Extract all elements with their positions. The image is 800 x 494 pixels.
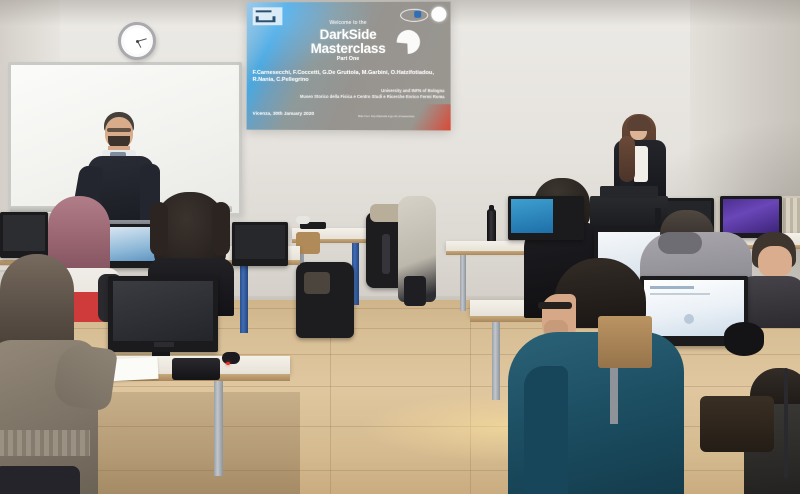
chair <box>700 396 774 452</box>
slide-date: Vicenza, 30th January 2020 <box>253 112 315 117</box>
bottle-cap <box>489 205 494 211</box>
notepad <box>109 357 158 381</box>
institute-logo-mark <box>414 11 421 18</box>
assistant-top <box>633 146 648 182</box>
student-jacket-arm <box>524 366 568 494</box>
monitor-screen <box>511 199 553 233</box>
student-face <box>758 246 792 278</box>
monitor-brand-label <box>154 342 174 347</box>
mouse-light <box>226 362 230 365</box>
student-glasses <box>538 302 572 309</box>
slide-affiliation: University and INFN of Bologna Museo Sto… <box>253 88 445 100</box>
monitor-screen <box>235 225 285 259</box>
backpack <box>296 262 354 338</box>
slide-authors: F.Carnesecchi, F.Coccetti, G.De Gruttola… <box>253 70 445 84</box>
desk-item <box>296 216 310 224</box>
projected-slide: Welcome to the DarkSide Masterclass Part… <box>247 2 451 131</box>
slide-affiliation-line2: Museo Storico della Fisica e Centro Stud… <box>253 94 445 100</box>
chair <box>598 316 652 368</box>
assistant-hair-strand <box>619 136 635 182</box>
monitor-screen <box>3 215 45 251</box>
slide-part-label: Part One <box>247 57 451 63</box>
student-foreground-coat <box>0 254 106 494</box>
chair-leg <box>610 368 618 424</box>
wall-clock <box>118 22 156 60</box>
student-lower-body <box>0 466 80 494</box>
slide-footer-url: Slide from: http://darkside.lngs.infn.it… <box>336 116 436 119</box>
desktop-monitor <box>508 196 584 240</box>
water-bottle <box>487 209 496 242</box>
student-hair-side <box>150 202 168 256</box>
presenter-glasses <box>107 128 131 132</box>
desk-leg <box>214 381 223 476</box>
desk-leg <box>492 322 500 400</box>
clock-face <box>124 28 150 54</box>
desk-leg <box>240 265 248 333</box>
slide-welcome-text: Welcome to the <box>247 21 451 27</box>
hoodie-hood <box>658 232 702 254</box>
cable <box>784 368 788 478</box>
slide-circle-logo <box>431 7 446 22</box>
desktop-monitor <box>232 222 288 266</box>
desktop-monitor <box>108 276 218 352</box>
lectern-top <box>600 186 658 198</box>
desk-leg <box>460 255 466 311</box>
backpack-strap <box>382 234 390 274</box>
backpack-pocket <box>304 272 330 294</box>
student-teal-jacket <box>508 258 688 494</box>
coat-lower <box>404 276 426 306</box>
slide-title-line2: Masterclass <box>247 42 451 57</box>
headphones <box>724 322 764 356</box>
computer-mouse <box>222 352 240 364</box>
student-arm <box>52 342 118 411</box>
monitor-screen <box>113 281 213 341</box>
coat-knit-band <box>0 430 90 456</box>
student-hair-side <box>212 202 230 256</box>
classroom-scene: Welcome to the DarkSide Masterclass Part… <box>0 0 800 494</box>
keyboard <box>172 358 220 380</box>
